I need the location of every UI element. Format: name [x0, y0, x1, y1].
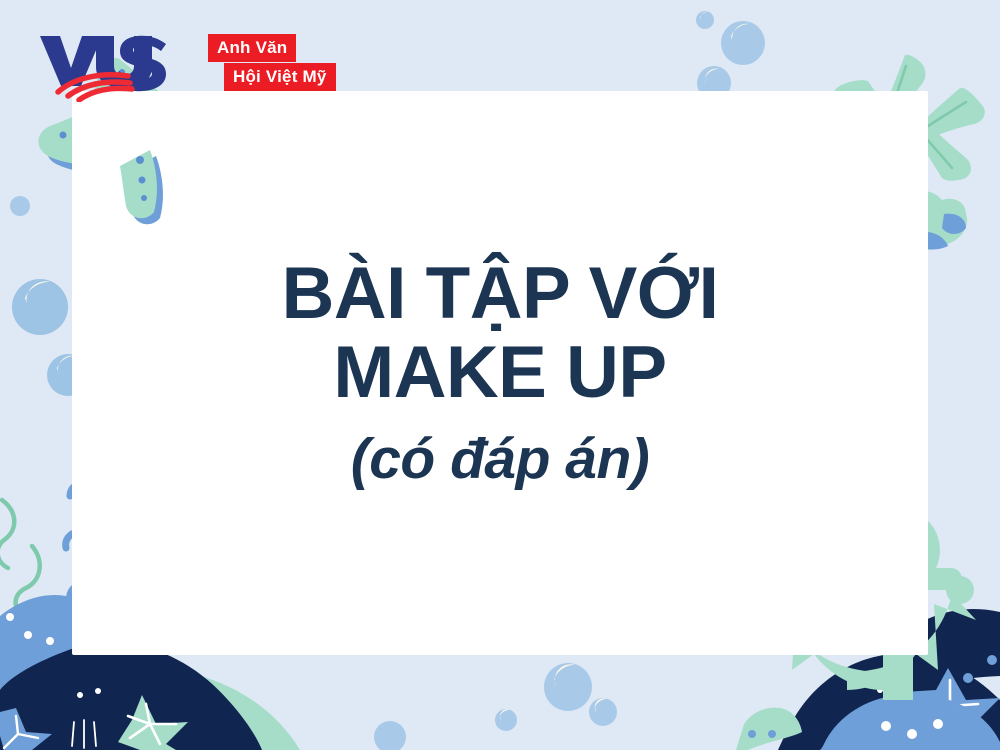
poster-canvas: Anh Văn Hội Việt Mỹ BÀI TẬP VỚI MAKE UP … — [0, 0, 1000, 750]
title-block: BÀI TẬP VỚI MAKE UP (có đáp án) — [72, 91, 928, 655]
logo-banner-line-2: Hội Việt Mỹ — [224, 63, 336, 91]
logo-banner-group: Anh Văn Hội Việt Mỹ — [166, 34, 356, 98]
logo-banner-line-1: Anh Văn — [208, 34, 296, 62]
page-subtitle: (có đáp án) — [351, 428, 650, 491]
page-title: BÀI TẬP VỚI MAKE UP — [190, 255, 810, 413]
